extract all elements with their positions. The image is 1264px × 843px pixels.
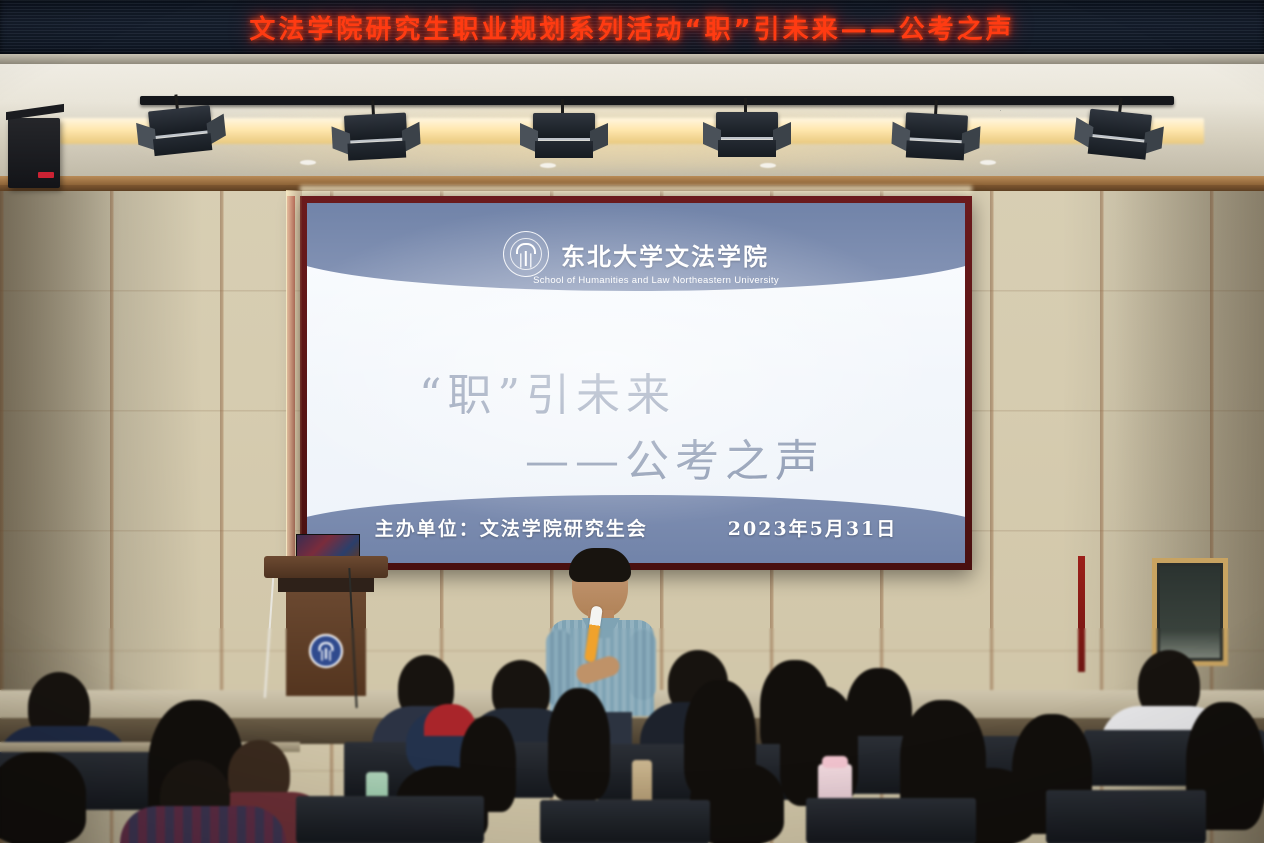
neu-emblem-icon: [503, 231, 549, 277]
projection-screen: 东北大学文法学院 School of Humanities and Law No…: [307, 203, 965, 563]
slide-title-line2: ——公考之声: [525, 425, 825, 489]
chair-back: [540, 800, 710, 843]
slide-brand-row: 东北大学文法学院: [307, 231, 965, 277]
slide-footer-row: 主办单位：文法学院研究生会 2023年5月31日: [307, 514, 965, 541]
lecture-hall-photo: 文法学院研究生职业规划系列活动“职”引未来——公考之声 东北大学文法学院 Sch…: [0, 0, 1264, 843]
ceiling-edge-trim: [0, 176, 1264, 185]
podium-neck: [278, 578, 374, 592]
podium: [272, 556, 380, 696]
screen-recess-highlight: [286, 190, 302, 576]
slide-brand-en: School of Humanities and Law Northeaster…: [307, 275, 965, 286]
led-banner: 文法学院研究生职业规划系列活动“职”引未来——公考之声: [0, 0, 1264, 54]
chair-back: [806, 798, 976, 843]
stage-light-icon: [148, 105, 218, 154]
control-booth-window: [1157, 563, 1223, 661]
wall-speaker: [8, 118, 60, 188]
slide-brand-cn: 东北大学文法学院: [561, 237, 769, 272]
wall-accent-strip: [1078, 556, 1085, 672]
slide-date: 2023年5月31日: [728, 514, 898, 541]
presenter-arm-right: [630, 630, 656, 700]
presenter-hair: [569, 548, 631, 582]
podium-neu-emblem-icon: [309, 634, 343, 668]
stage-light-icon: [1086, 109, 1156, 158]
led-banner-text: 文法学院研究生职业规划系列活动“职”引未来——公考之声: [249, 9, 1014, 46]
podium-top: [264, 556, 388, 578]
stage-light-icon: [533, 113, 599, 155]
stage-light-icon: [344, 112, 412, 157]
chair-back: [296, 796, 484, 843]
stage-light-icon: [904, 112, 972, 157]
slide-organizer: 主办单位：文法学院研究生会: [375, 514, 648, 541]
banner-lip: [0, 54, 1264, 64]
slide-title-line1: “职”引未来: [419, 359, 676, 423]
projection-screen-frame: 东北大学文法学院 School of Humanities and Law No…: [300, 196, 972, 570]
lighting-truss: [140, 96, 1174, 105]
stage-light-icon: [716, 112, 782, 154]
chair-back: [1046, 790, 1206, 843]
cove-light: [60, 118, 1204, 144]
